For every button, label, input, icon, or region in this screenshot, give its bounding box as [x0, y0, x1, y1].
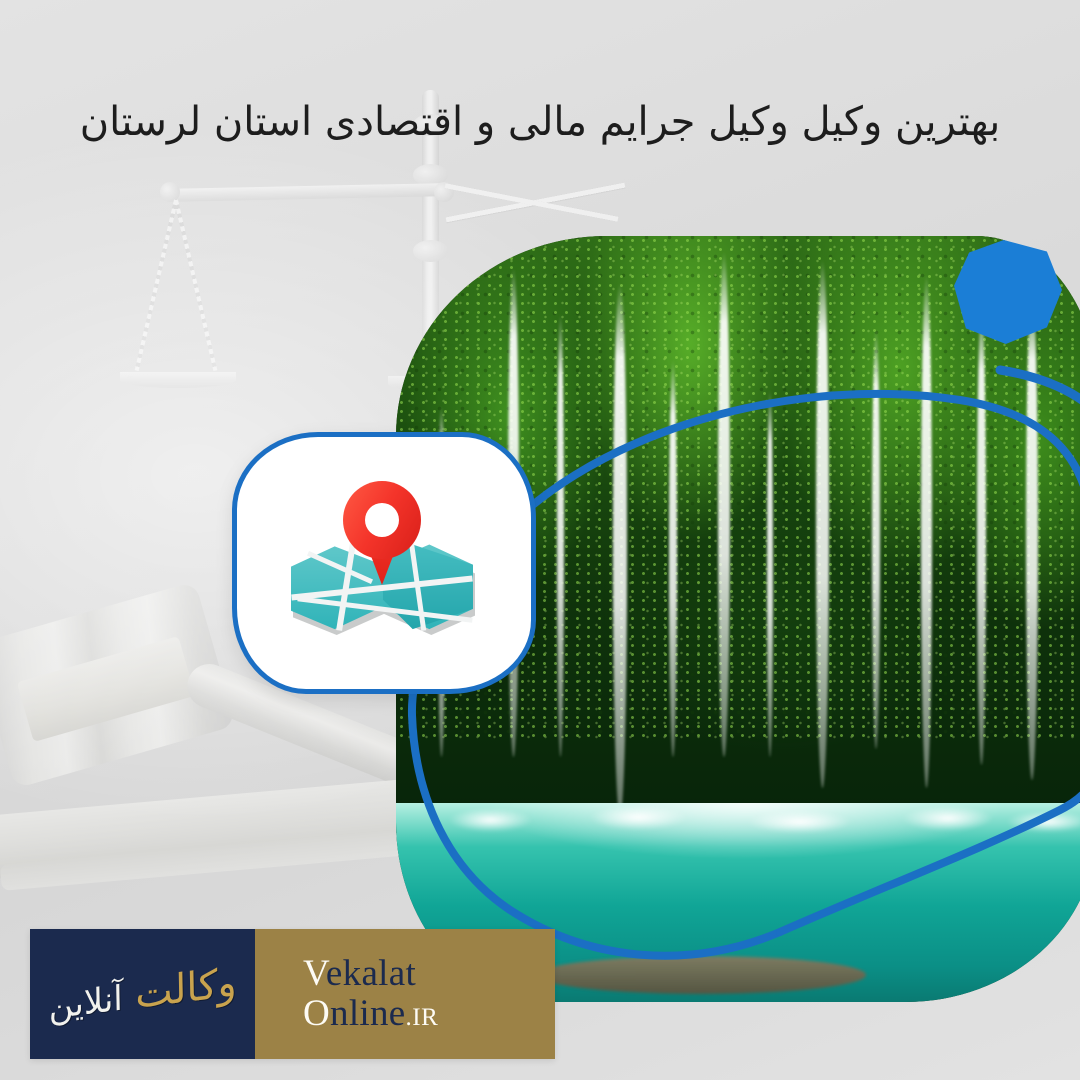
pool-foam	[410, 803, 1080, 837]
logo-english-panel: Vekalat Online.IR	[255, 929, 555, 1059]
water-strand	[718, 251, 730, 757]
logo-persian-calligraphy: وکالت آنلاین	[48, 962, 237, 1025]
water-strand	[767, 389, 773, 757]
logo-line-online: Online.IR	[303, 994, 555, 1034]
water-strand	[1026, 290, 1038, 780]
water-strand	[557, 313, 564, 757]
water-strand	[816, 259, 829, 788]
logo-vekalat-rest: ekalat	[326, 953, 416, 994]
water-strand	[872, 328, 880, 749]
logo-tld: .IR	[406, 1004, 439, 1031]
logo-persian-word-2: آنلاین	[48, 978, 123, 1027]
page-title: بهترین وکیل وکیل جرایم مالی و اقتصادی اس…	[0, 96, 1080, 148]
logo-line-vekalat: Vekalat	[303, 954, 555, 994]
logo-persian-word-1: وکالت	[135, 959, 237, 1018]
water-strand	[669, 359, 677, 757]
banner-canvas: بهترین وکیل وکیل جرایم مالی و اقتصادی اس…	[0, 0, 1080, 1080]
water-strand	[921, 274, 932, 787]
map-location-badge	[232, 432, 536, 694]
water-strand	[613, 282, 627, 818]
logo-online-rest: nline	[330, 993, 405, 1034]
logo-persian-panel: وکالت آنلاین	[30, 929, 255, 1059]
location-pin-icon	[343, 481, 421, 585]
water-strand	[977, 305, 986, 765]
site-logo[interactable]: وکالت آنلاین Vekalat Online.IR	[30, 929, 555, 1059]
pin-hole	[365, 503, 399, 537]
map-location-icon	[291, 481, 477, 645]
